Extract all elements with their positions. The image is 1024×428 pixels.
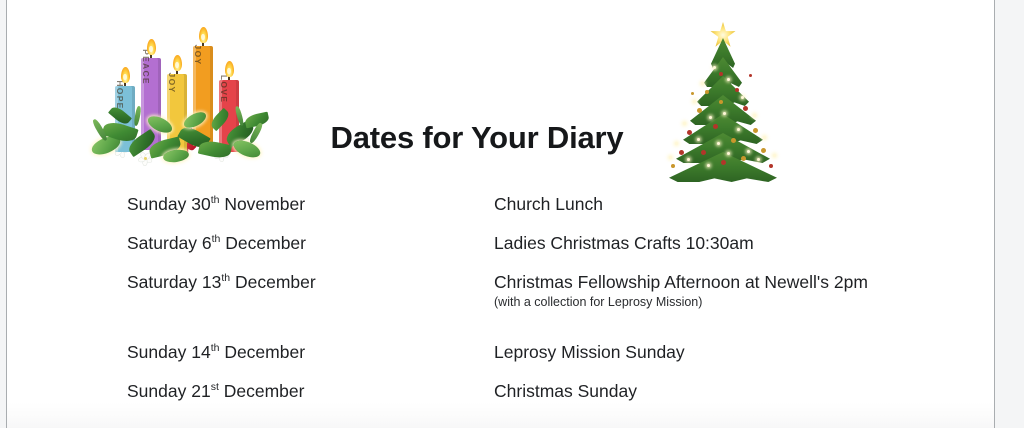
schedule-event-note: (with a collection for Leprosy Mission)	[494, 294, 702, 310]
candle-flame-icon	[121, 67, 130, 83]
advent-candles-image: HOPEPEACEJOYJOYLOVE	[87, 18, 277, 180]
tree-light	[727, 78, 730, 81]
tree-light	[697, 138, 700, 141]
tree-ornament	[697, 108, 702, 113]
schedule-date: Saturday 6th December	[127, 232, 306, 254]
page-border-right	[994, 0, 995, 428]
tree-light	[713, 66, 716, 69]
date-ordinal-suffix: th	[211, 342, 220, 354]
advent-candle-label: JOY	[193, 45, 203, 66]
tree-light	[683, 122, 686, 125]
schedule-event: Church Lunch	[494, 193, 603, 215]
tree-ornament	[671, 164, 675, 168]
date-ordinal-suffix: st	[211, 381, 219, 393]
schedule-row: Sunday 21st DecemberChristmas Sunday	[7, 373, 994, 412]
tree-ornament	[761, 148, 766, 153]
tree-light	[763, 136, 766, 139]
holly-leaf	[231, 137, 262, 160]
date-ordinal-suffix: th	[211, 194, 220, 206]
schedule-date: Sunday 14th December	[127, 341, 305, 363]
tree-ornament	[679, 150, 684, 155]
tree-ornament	[741, 156, 746, 161]
tree-ornament	[743, 106, 748, 111]
tree-ornament	[691, 92, 694, 95]
tree-light	[675, 142, 678, 145]
schedule-row: Saturday 13th DecemberChristmas Fellowsh…	[7, 264, 994, 322]
schedule-date: Sunday 21st December	[127, 380, 304, 402]
candle-flame-icon	[147, 39, 156, 55]
tree-ornament	[749, 74, 752, 77]
tree-ornament	[713, 124, 718, 129]
date-ordinal-suffix: th	[212, 233, 221, 245]
tree-light	[687, 158, 690, 161]
tree-light	[737, 128, 740, 131]
tree-light	[701, 82, 704, 85]
document-page: HOPEPEACEJOYJOYLOVE Dates for Your Diary…	[0, 0, 1024, 428]
schedule-event: Leprosy Mission Sunday	[494, 341, 685, 363]
schedule-row: Saturday 6th DecemberLadies Christmas Cr…	[7, 225, 994, 264]
candle-flame-icon	[199, 27, 208, 43]
schedule-event: Ladies Christmas Crafts 10:30am	[494, 232, 754, 254]
schedule-event: Christmas Fellowship Afternoon at Newell…	[494, 271, 868, 293]
schedule-row: Sunday 30th NovemberChurch Lunch	[7, 186, 994, 225]
schedule-date: Saturday 13th December	[127, 271, 316, 293]
tree-light	[757, 158, 760, 161]
advent-candle-label: JOY	[167, 73, 177, 94]
tree-light	[669, 156, 672, 159]
tree-light	[709, 116, 712, 119]
tree-light	[693, 100, 696, 103]
christmas-tree-image	[657, 12, 789, 176]
tree-ornament	[721, 160, 726, 165]
tree-light	[747, 150, 750, 153]
dates-list: Sunday 30th NovemberChurch LunchSaturday…	[7, 186, 994, 412]
tree-ornament	[731, 138, 736, 143]
tree-light	[707, 164, 710, 167]
schedule-event: Christmas Sunday	[494, 380, 637, 402]
tree-light	[741, 96, 744, 99]
tree-light	[773, 154, 776, 157]
tree-ornament	[719, 100, 723, 104]
tree-ornament	[769, 164, 773, 168]
document-header: HOPEPEACEJOYJOYLOVE Dates for Your Diary	[7, 0, 994, 185]
tree-light	[717, 142, 720, 145]
tree-ornament	[687, 130, 692, 135]
tree-light	[723, 112, 726, 115]
tree-light	[753, 114, 756, 117]
schedule-date: Sunday 30th November	[127, 193, 305, 215]
tree-ornament	[701, 150, 706, 155]
page-gutter-right	[995, 0, 1024, 428]
tree-ornament	[705, 90, 709, 94]
tree-ornament	[753, 128, 758, 133]
candle-flame-icon	[173, 55, 182, 71]
tree-ornament	[719, 72, 723, 76]
tree-foliage	[657, 38, 789, 172]
date-ordinal-suffix: th	[221, 272, 230, 284]
tree-light	[727, 152, 730, 155]
schedule-row: Sunday 14th DecemberLeprosy Mission Sund…	[7, 334, 994, 373]
candle-flame-icon	[225, 61, 234, 77]
page-title: Dates for Your Diary	[307, 118, 647, 158]
tree-ornament	[735, 88, 739, 92]
